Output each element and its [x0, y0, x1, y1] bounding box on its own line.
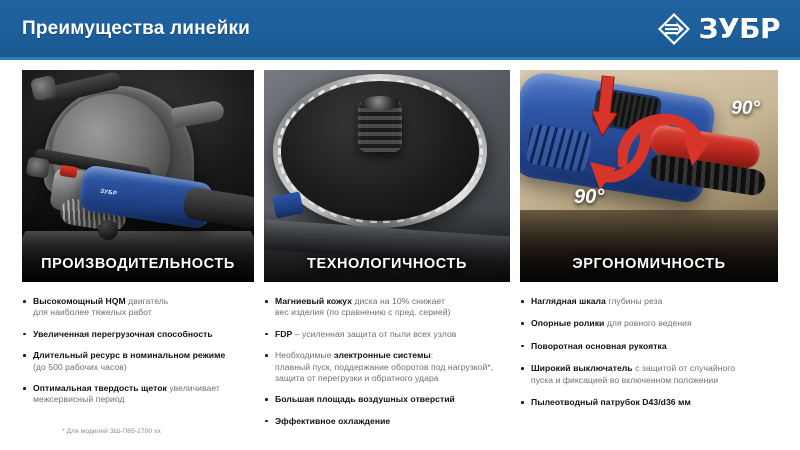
photo-caption: ПРОИЗВОДИТЕЛЬНОСТЬ: [22, 256, 254, 272]
disc-segment: [478, 157, 482, 164]
list-item: Оптимальная твердость щеток увеличивает …: [22, 383, 254, 406]
bullet-rest: диска на 10% снижает: [352, 296, 445, 306]
bullet-bold: FDP: [275, 329, 292, 339]
bullet-list-ergonomics: Наглядная шкала глубины реза Опорные рол…: [520, 296, 778, 408]
list-item: Опорные ролики для ровного ведения: [520, 318, 778, 329]
bullet-bold: Поворотная основная рукоятка: [531, 341, 667, 351]
bullet-rest: :: [431, 350, 433, 360]
bullet-line2: (до 500 рабочих часов): [33, 362, 127, 372]
bullet-bold: Широкий выключатель: [531, 363, 633, 373]
bullet-rest: глубины реза: [606, 296, 663, 306]
column-ergonomics: 90° 90° ЭРГОНОМИЧНОСТЬ Наглядная шкала г…: [520, 70, 778, 419]
header-bar: Преимущества линейки ЗУБР: [0, 0, 800, 60]
bullet-bold: электронные системы: [334, 350, 431, 360]
bullet-line2: вес изделия (по сравнению с пред. серией…: [275, 307, 451, 317]
brand-name: ЗУБР: [699, 12, 780, 46]
slide-root: Преимущества линейки ЗУБР: [0, 0, 800, 450]
list-item: Необходимые электронные системы: плавный…: [264, 350, 510, 384]
photo-grinder-ergonomics: 90° 90° ЭРГОНОМИЧНОСТЬ: [520, 70, 778, 282]
bullet-bold: Пылеотводный патрубок D43/d36 мм: [531, 397, 691, 407]
bullet-bold: Высокомощный HQM: [33, 296, 126, 306]
list-item: Магниевый кожух диска на 10% снижает вес…: [264, 296, 510, 319]
bullet-line2: пуска и фиксацией во включенном положени…: [531, 375, 718, 385]
disc-segment: [480, 148, 483, 155]
exhaust-spout: [171, 100, 226, 129]
bullet-rest: с защитой от случайного: [633, 363, 736, 373]
list-item: Длительный ресурс в номинальном режиме (…: [22, 350, 254, 373]
footnote: * Для моделей ЗШ-П65-2700 хх: [62, 428, 161, 435]
bullet-pre: Необходимые: [275, 350, 334, 360]
disc-segment: [478, 138, 482, 145]
list-item: Пылеотводный патрубок D43/d36 мм: [520, 397, 778, 408]
spindle-nut: [361, 96, 399, 111]
bullet-rest: – усиленная защита от пыли всех узлов: [292, 329, 456, 339]
column-performance: ЗУБР ПРОИЗВОДИТЕЛЬНОСТЬ Высокомощный HQM…: [22, 70, 254, 416]
bullet-list-performance: Высокомощный HQM двигатель для наиболее …: [22, 296, 254, 406]
bullet-rest: для ровного ведения: [604, 318, 691, 328]
bullet-bold: Увеличенная перегрузочная способность: [33, 329, 213, 339]
bullet-bold: Опорные ролики: [531, 318, 604, 328]
list-item: Эффективное охлаждение: [264, 416, 510, 427]
list-item: Большая площадь воздушных отверстий: [264, 394, 510, 405]
zubr-diamond-logo-icon: [657, 12, 691, 46]
page-title: Преимущества линейки: [22, 18, 250, 40]
photo-cutter-saw: ЗУБР ПРОИЗВОДИТЕЛЬНОСТЬ: [22, 70, 254, 282]
bullet-bold: Длительный ресурс в номинальном режиме: [33, 350, 225, 360]
content-columns: ЗУБР ПРОИЗВОДИТЕЛЬНОСТЬ Высокомощный HQM…: [0, 70, 800, 440]
bullet-bold: Магниевый кожух: [275, 296, 352, 306]
brand-logo: ЗУБР: [657, 12, 780, 46]
bullet-bold: Оптимальная твердость щеток: [33, 383, 167, 393]
bullet-list-technology: Магниевый кожух диска на 10% снижает вес…: [264, 296, 510, 427]
list-item: Широкий выключатель с защитой от случайн…: [520, 363, 778, 386]
bullet-bold: Эффективное охлаждение: [275, 416, 390, 426]
bullet-line2: плавный пуск, поддержание оборотов под н…: [275, 362, 493, 372]
support-bar-cap: [26, 156, 51, 179]
list-item: Увеличенная перегрузочная способность: [22, 329, 254, 340]
column-technology: ТЕХНОЛОГИЧНОСТЬ Магниевый кожух диска на…: [264, 70, 510, 437]
bullet-line2: для наиболее тяжелых работ: [33, 307, 152, 317]
list-item: FDP – усиленная защита от пыли всех узло…: [264, 329, 510, 340]
photo-caption: ЭРГОНОМИЧНОСТЬ: [520, 256, 778, 272]
list-item: Наглядная шкала глубины реза: [520, 296, 778, 307]
angle-annotation-right: 90°: [731, 98, 760, 120]
bullet-bold: Большая площадь воздушных отверстий: [275, 394, 455, 404]
photo-caption: ТЕХНОЛОГИЧНОСТЬ: [264, 256, 510, 272]
bullet-rest: увеличивает: [167, 383, 220, 393]
list-item: Поворотная основная рукоятка: [520, 341, 778, 352]
list-item: Высокомощный HQM двигатель для наиболее …: [22, 296, 254, 319]
angle-annotation-left: 90°: [574, 186, 604, 209]
bullet-bold: Наглядная шкала: [531, 296, 606, 306]
bullet-line2: межсервисный период: [33, 394, 125, 404]
bullet-rest: двигатель: [126, 296, 169, 306]
bullet-line3: защита от перегрузки и обратного удара: [275, 373, 439, 383]
photo-diamond-disc: ТЕХНОЛОГИЧНОСТЬ: [264, 70, 510, 282]
